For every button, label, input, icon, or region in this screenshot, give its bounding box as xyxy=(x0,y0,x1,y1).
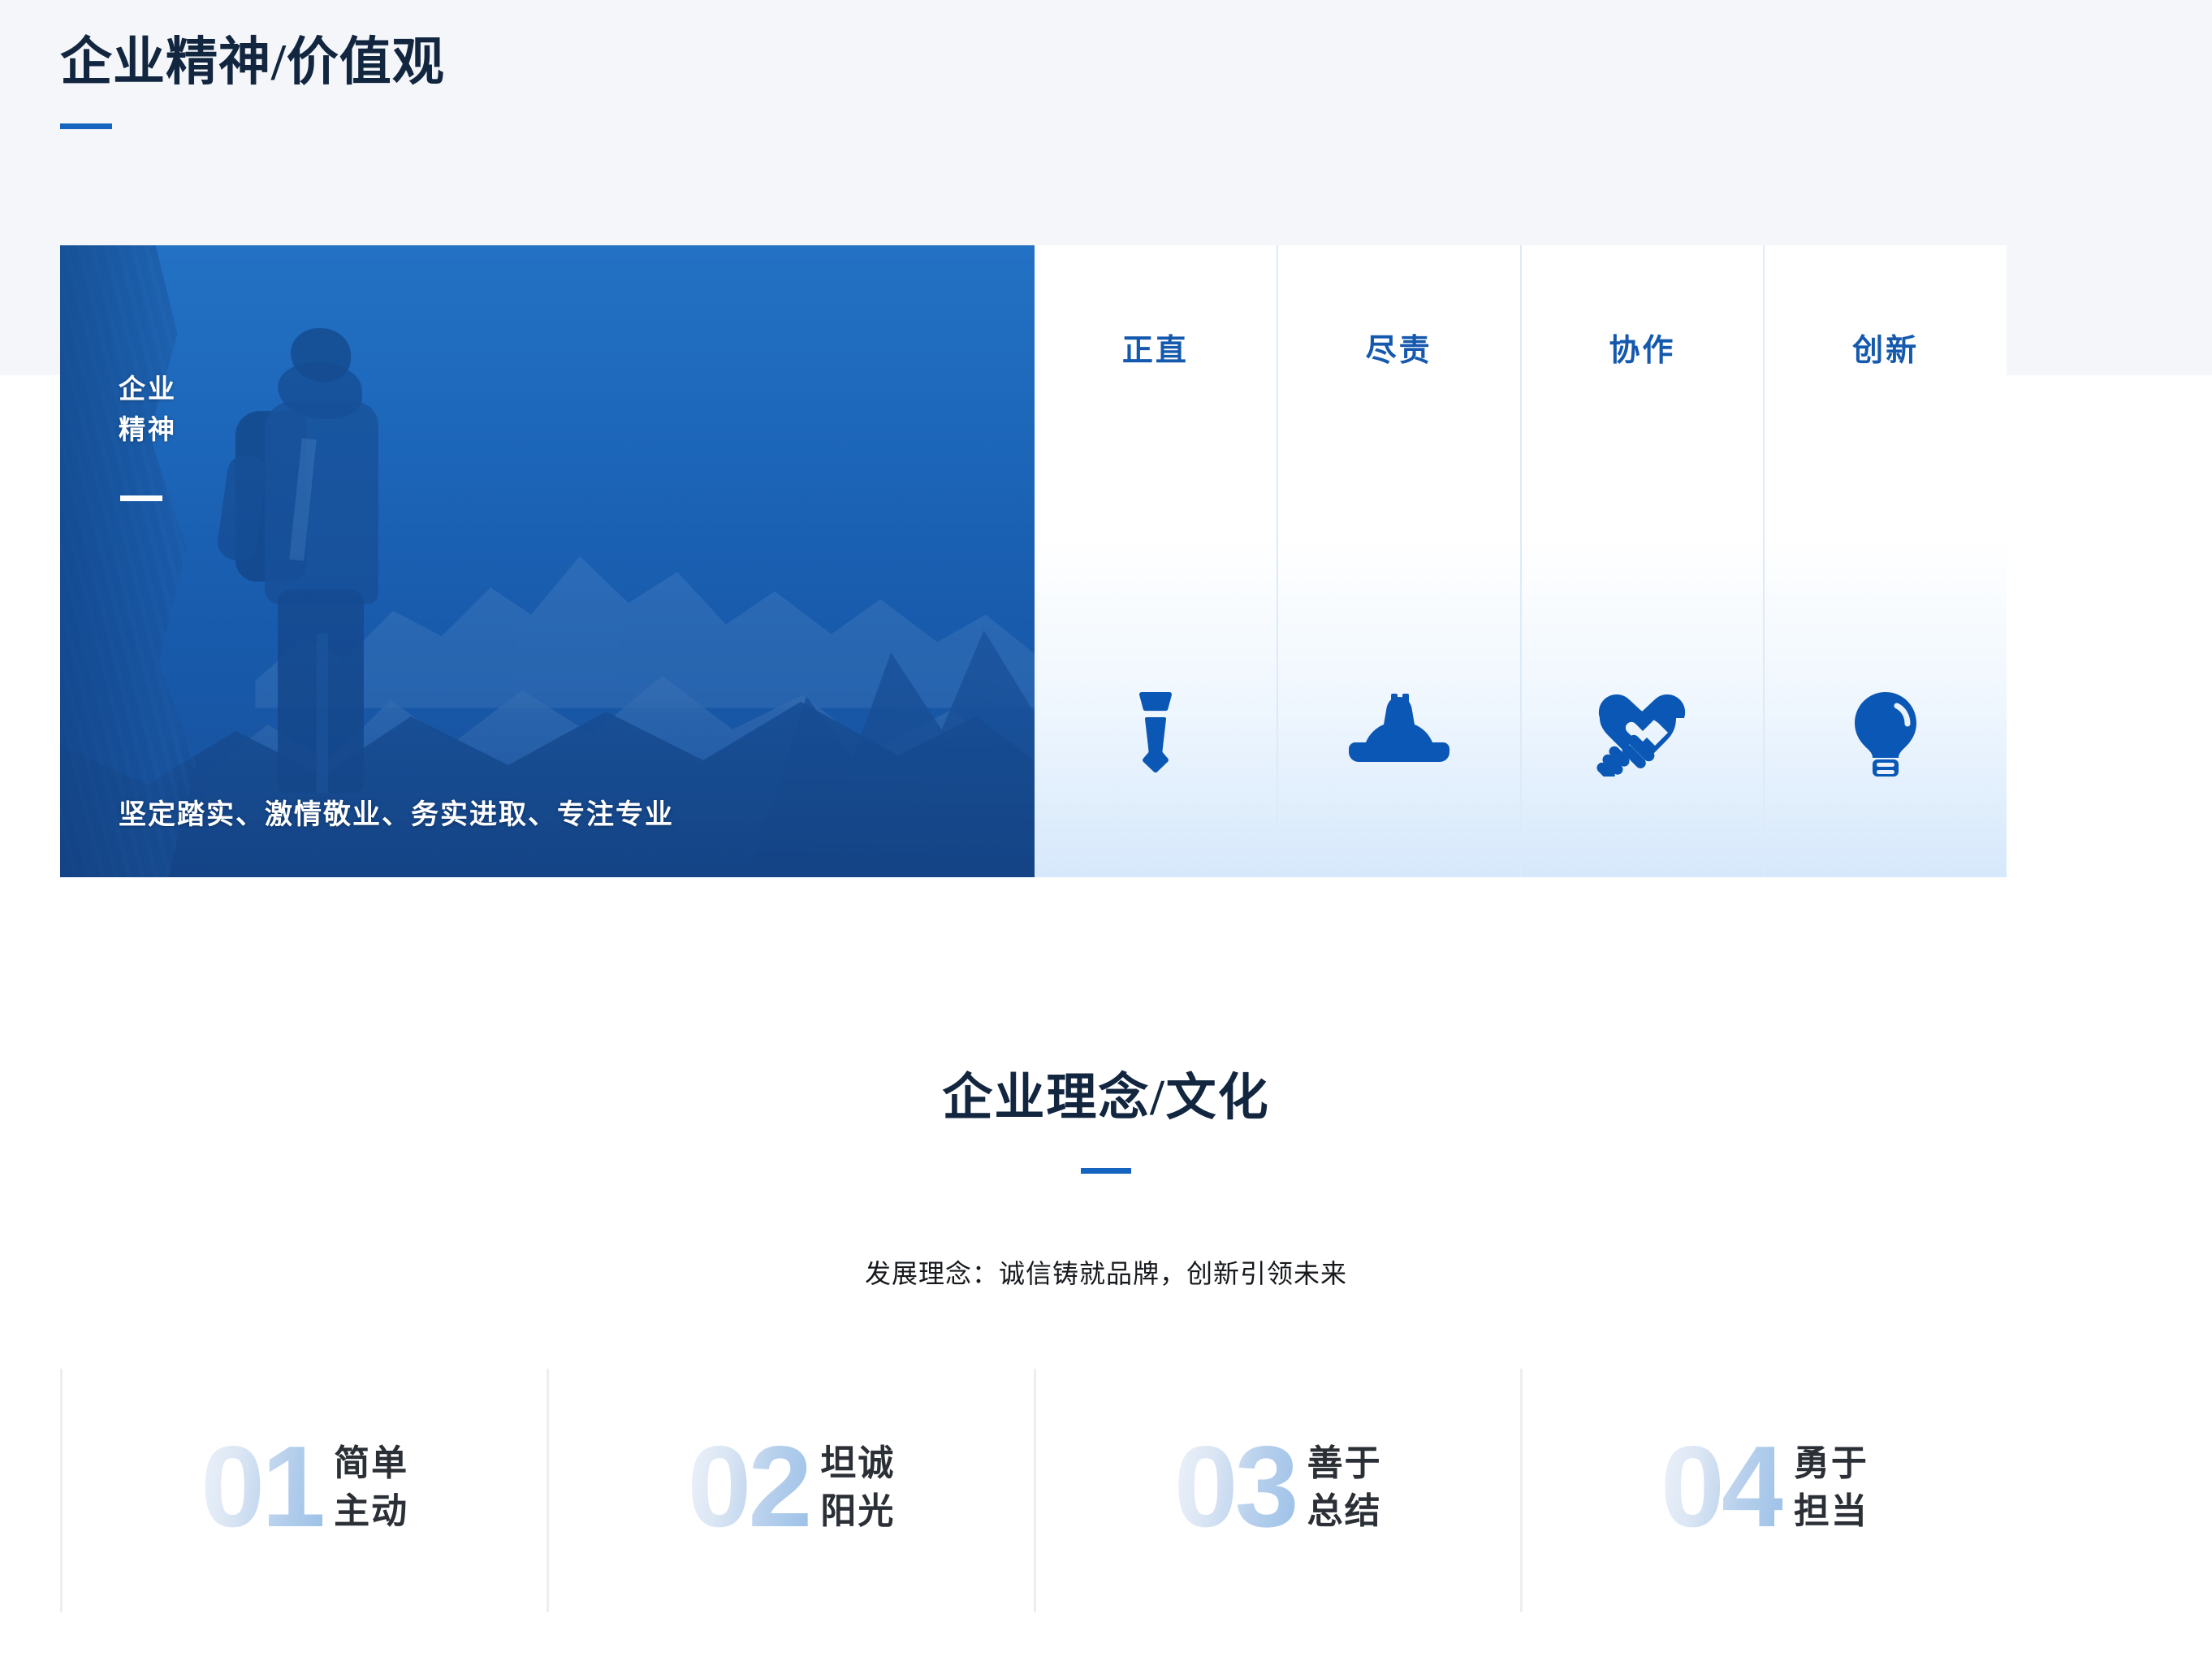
culture-accent-rule xyxy=(1081,1168,1131,1174)
value-label-line1: 善于 xyxy=(1307,1439,1382,1487)
value-label: 勇于 担当 xyxy=(1794,1439,1869,1536)
value-label-line2: 主动 xyxy=(334,1487,408,1535)
value-label: 善于 总结 xyxy=(1307,1439,1382,1536)
value-label-line1: 勇于 xyxy=(1794,1439,1869,1487)
title-accent-rule xyxy=(60,123,112,129)
lightbulb-icon xyxy=(1765,690,2007,778)
hero-accent-rule xyxy=(120,495,162,501)
value-card-responsibility[interactable]: 尽责 xyxy=(1277,245,1520,877)
hero-caption: 坚定踏实、激情敬业、务实进取、专注专业 xyxy=(119,792,674,832)
value-label-line2: 担当 xyxy=(1794,1487,1869,1535)
value-card-title: 协作 xyxy=(1522,325,1764,370)
hero-label-line1: 企业 xyxy=(119,369,177,409)
hero-blue-overlay xyxy=(60,245,1035,877)
hero-label: 企业 精神 xyxy=(119,369,177,450)
value-label: 简单 主动 xyxy=(334,1439,408,1536)
value-number: 01 xyxy=(201,1434,322,1541)
value-label-line1: 简单 xyxy=(334,1439,408,1487)
handshake-heart-icon xyxy=(1522,690,1764,777)
page-title: 企业精神/价值观 xyxy=(60,32,1035,93)
value-label-line2: 阳光 xyxy=(820,1487,895,1535)
culture-value-item-01[interactable]: 01 简单 主动 xyxy=(60,1369,547,1612)
corporate-culture-section: 企业理念/文化 发展理念：诚信铸就品牌，创新引领未来 xyxy=(0,1056,2212,1291)
value-card-collaboration[interactable]: 协作 xyxy=(1520,245,1764,877)
culture-values-group: 01 简单 主动 02 坦诚 阳光 03 善于 总结 04 xyxy=(60,1369,2007,1612)
value-label-line2: 总结 xyxy=(1307,1487,1382,1535)
corporate-spirit-section: 企业 精神 坚定踏实、激情敬业、务实进取、专注专业 正直 尽责 xyxy=(60,245,2007,877)
value-card-title: 正直 xyxy=(1035,325,1277,370)
value-cards-group: 正直 尽责 协作 xyxy=(1035,245,2007,877)
hero-label-line2: 精神 xyxy=(119,409,177,450)
hard-hat-icon xyxy=(1278,690,1520,768)
value-card-integrity[interactable]: 正直 xyxy=(1035,245,1277,877)
culture-value-item-04[interactable]: 04 勇于 担当 xyxy=(1520,1369,2007,1612)
value-card-title: 尽责 xyxy=(1278,325,1520,370)
value-number: 03 xyxy=(1174,1434,1296,1541)
culture-value-item-02[interactable]: 02 坦诚 阳光 xyxy=(547,1369,1033,1612)
culture-value-item-03[interactable]: 03 善于 总结 xyxy=(1034,1369,1520,1612)
hero-image-card: 企业 精神 坚定踏实、激情敬业、务实进取、专注专业 xyxy=(60,245,1035,877)
value-card-innovation[interactable]: 创新 xyxy=(1763,245,2007,877)
culture-title: 企业理念/文化 xyxy=(0,1056,2212,1129)
culture-subtitle: 发展理念：诚信铸就品牌，创新引领未来 xyxy=(0,1253,2212,1291)
value-label: 坦诚 阳光 xyxy=(820,1439,895,1536)
value-card-title: 创新 xyxy=(1765,325,2007,370)
necktie-icon xyxy=(1035,690,1277,775)
value-number: 04 xyxy=(1661,1434,1782,1541)
value-number: 02 xyxy=(687,1434,809,1541)
page-title-block: 企业精神/价值观 xyxy=(60,32,1035,129)
value-label-line1: 坦诚 xyxy=(820,1439,895,1487)
